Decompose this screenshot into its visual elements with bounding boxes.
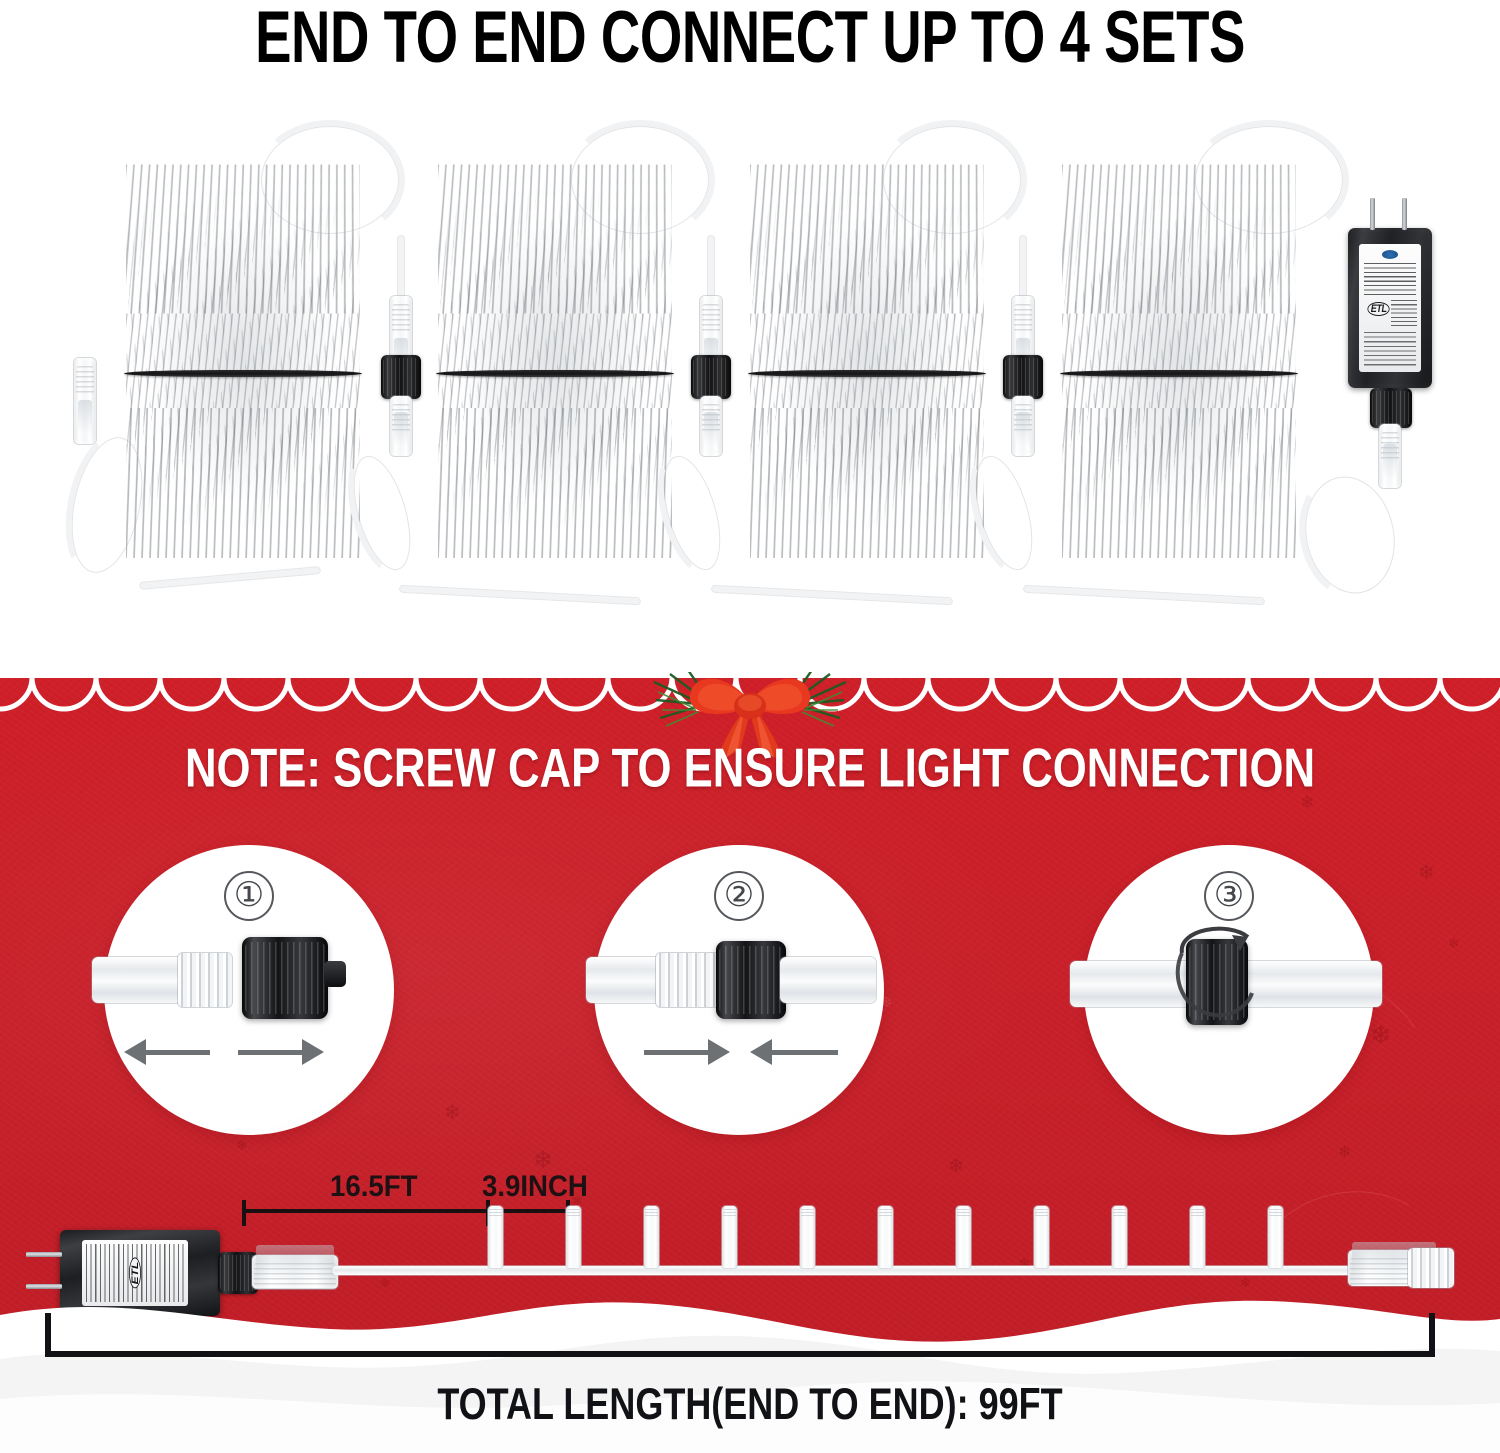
- snowflake-icon: ❄: [1338, 1142, 1351, 1164]
- total-measure-cap-right: [1429, 1313, 1435, 1357]
- threaded-tip-icon: [656, 953, 722, 1007]
- led-bulb-icon: [1268, 1206, 1283, 1268]
- female-connector-icon: [700, 396, 722, 456]
- brand-logo-icon: [1382, 250, 1398, 259]
- arrow-right-icon: [302, 1039, 324, 1065]
- step-1-number: ①: [224, 871, 274, 921]
- led-bulb-icon: [644, 1206, 659, 1268]
- led-bulb-icon: [488, 1206, 503, 1268]
- connector-body-icon: [780, 957, 876, 1003]
- connect-wire: [712, 586, 952, 605]
- snowflake-icon: ❄: [1418, 862, 1435, 884]
- plug-prong-icon: [26, 1252, 62, 1257]
- arrow-left-icon: [124, 1039, 146, 1065]
- screw-cap-icon: [691, 355, 731, 399]
- product-infographic: END TO END CONNECT UP TO 4 SETS: [0, 0, 1500, 1453]
- cable-tie: [1060, 370, 1298, 377]
- total-length-label: TOTAL LENGTH(END TO END): 99FT: [75, 1382, 1425, 1427]
- connect-wire: [1189, 120, 1349, 240]
- connector-body-icon: [92, 957, 188, 1003]
- screw-cap-icon: [716, 941, 786, 1019]
- etl-mark-icon: ETL: [1367, 302, 1389, 316]
- screw-cap-icon: [1003, 355, 1043, 399]
- cap-nub-icon: [324, 961, 346, 987]
- led-bulb-icon: [1034, 1206, 1049, 1268]
- step-1-circle: ①: [104, 845, 394, 1135]
- snowflake-icon: ❄: [236, 1134, 248, 1156]
- arrow-left-icon: [750, 1039, 772, 1065]
- plug-prong-icon: [1402, 198, 1407, 230]
- measure-tick: [242, 1200, 246, 1226]
- power-adapter: ETL: [1348, 228, 1432, 388]
- led-bulb-icon: [1190, 1206, 1205, 1268]
- led-bulb-icon: [1112, 1206, 1127, 1268]
- total-measure-bar: [45, 1351, 1435, 1357]
- snowflake-icon: ❄: [948, 1156, 964, 1178]
- total-measure-cap-left: [45, 1313, 51, 1357]
- female-connector-icon: [390, 396, 412, 456]
- bulb-spacing-label: 3.9INCH: [482, 1172, 588, 1202]
- measure-bar: [242, 1209, 570, 1213]
- screw-cap-icon: [242, 937, 328, 1019]
- connect-wire: [400, 586, 640, 605]
- led-bulb-icon: [566, 1206, 581, 1268]
- connect-wire: [255, 120, 405, 240]
- lead-length-label: 16.5FT: [330, 1172, 417, 1202]
- rotate-arrow-icon: [1162, 907, 1282, 1037]
- lead-wire: [140, 567, 320, 589]
- connect-wire: [877, 120, 1027, 240]
- screw-cap-icon: [381, 355, 421, 399]
- male-connector-icon: [1379, 424, 1401, 488]
- led-bulb-icon: [956, 1206, 971, 1268]
- connector-body-icon: [586, 957, 664, 1003]
- female-connector-icon: [1012, 396, 1034, 456]
- cable-tie: [436, 370, 674, 377]
- female-connector-icon: [74, 358, 96, 444]
- step-3-circle: ③: [1084, 845, 1374, 1135]
- snowflake-icon: ❄: [533, 1150, 553, 1172]
- step-2-number: ②: [714, 871, 764, 921]
- top-white-panel: END TO END CONNECT UP TO 4 SETS: [0, 0, 1500, 672]
- led-bulb-icon: [878, 1206, 893, 1268]
- led-bulb-icon: [800, 1206, 815, 1268]
- step-2-circle: ②: [594, 845, 884, 1135]
- adapter-label: ETL: [1359, 244, 1421, 372]
- connect-wire: [565, 120, 715, 240]
- arrow-left-line: [144, 1050, 210, 1055]
- instruction-panel: ❄ ❄ ❄ ❄ ❄ ❄ ❄ ❄ ❄ ❄ ❄ ❄ ❄ ❄ ❄ ❄: [0, 672, 1500, 1453]
- connect-wire: [1024, 586, 1264, 605]
- screw-cap-icon: [1370, 388, 1412, 428]
- threaded-tip-icon: [178, 953, 232, 1007]
- arrow-right-line: [238, 1050, 304, 1055]
- snowflake-icon: ❄: [444, 1102, 461, 1124]
- led-bulb-icon: [722, 1206, 737, 1268]
- snowflake-icon: ❄: [1448, 932, 1460, 954]
- plug-prong-icon: [1370, 198, 1375, 230]
- page-title: END TO END CONNECT UP TO 4 SETS: [90, 2, 1410, 75]
- cable-tie: [124, 370, 362, 377]
- cable-tie: [748, 370, 986, 377]
- note-heading: NOTE: SCREW CAP TO ENSURE LIGHT CONNECTI…: [53, 740, 1448, 795]
- arrow-right-icon: [708, 1039, 730, 1065]
- arrow-left-line: [772, 1050, 838, 1055]
- arrow-right-line: [644, 1050, 710, 1055]
